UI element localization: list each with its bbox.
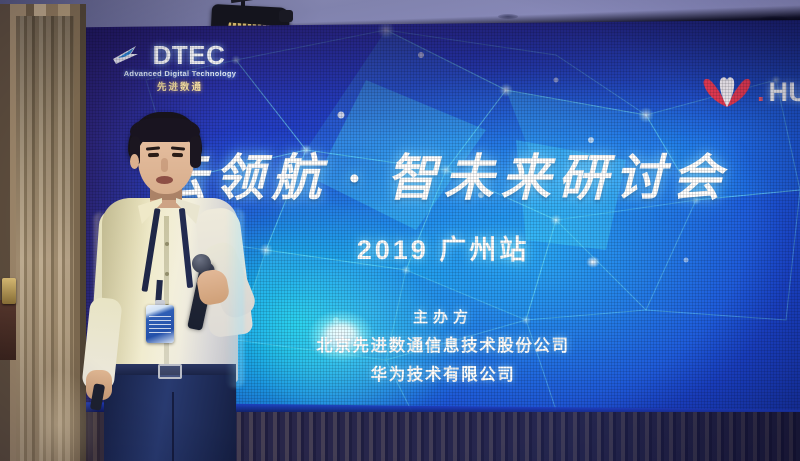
speaker-person: [84, 112, 274, 461]
attendee-badge: [146, 305, 174, 343]
belt-buckle: [158, 364, 182, 379]
eye-left: [148, 153, 159, 158]
door-panel: [0, 300, 16, 360]
sideburn-right: [190, 136, 201, 168]
spotlight-knob: [279, 10, 293, 22]
nose: [161, 158, 168, 172]
conference-photo: DTEC Advanced Digital Technology 先进数通 . …: [0, 0, 800, 461]
spotlight-mount-bracket: [231, 0, 261, 3]
trouser-crease: [172, 392, 174, 461]
badge-text-lines: [149, 316, 171, 336]
rim-light-right: [226, 208, 244, 388]
door-handle[interactable]: [2, 278, 16, 304]
mouth: [156, 176, 173, 184]
shirt-button: [165, 242, 169, 246]
ear: [130, 154, 139, 169]
shirt-placket: [164, 216, 169, 381]
eye-right: [172, 153, 183, 158]
shirt-button: [165, 272, 169, 276]
